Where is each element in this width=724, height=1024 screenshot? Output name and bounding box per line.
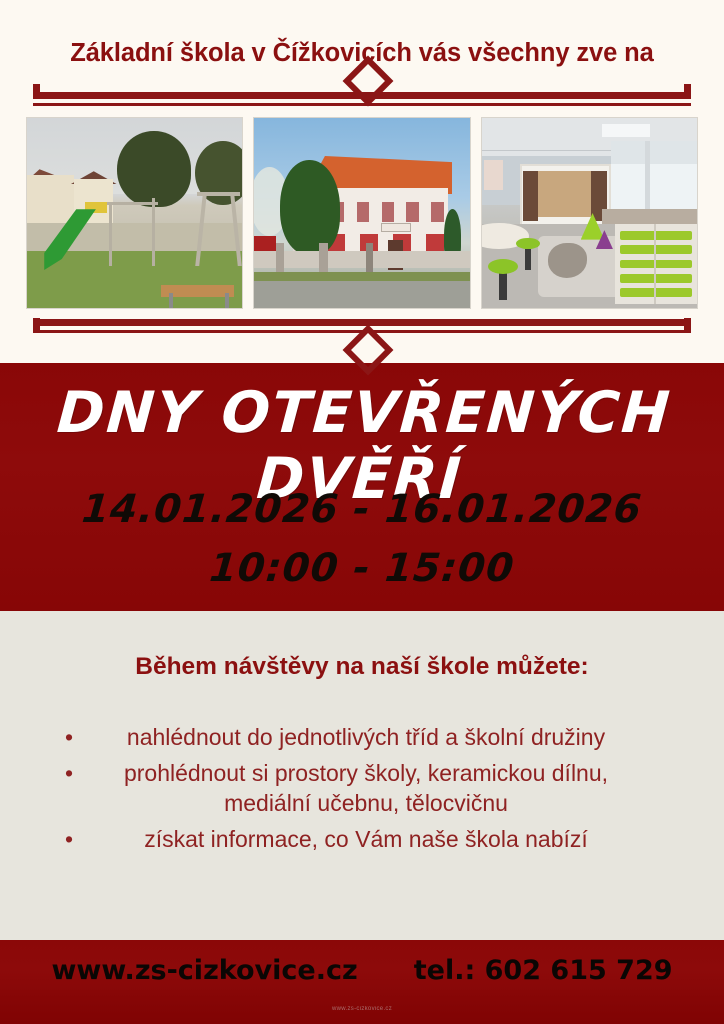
- event-schedule: 14.01.2026 - 16.01.2026 10:00 - 15:00: [0, 487, 724, 591]
- classroom-photo: [481, 117, 698, 309]
- list-item: • získat informace, co Vám naše škola na…: [52, 824, 672, 855]
- bullet-dot-icon: •: [52, 722, 86, 753]
- event-time-range: 10:00 - 15:00: [0, 546, 724, 591]
- list-item-label: prohlédnout si prostory školy, keramicko…: [86, 758, 672, 819]
- ornament-top-bar: [33, 92, 691, 99]
- playground-photo: [26, 117, 243, 309]
- bullet-dot-icon: •: [52, 758, 86, 789]
- phone-number[interactable]: tel.: 602 615 729: [414, 955, 673, 986]
- ornament-bottom-bar: [33, 319, 691, 326]
- ornament-top: [33, 92, 691, 106]
- activity-list: • nahlédnout do jednotlivých tříd a škol…: [52, 722, 672, 859]
- body-heading: Během návštěvy na naší škole můžete:: [0, 653, 724, 681]
- website-link[interactable]: www.zs-cizkovice.cz: [51, 955, 357, 986]
- list-item-label: získat informace, co Vám naše škola nabí…: [86, 824, 672, 855]
- list-item-label: nahlédnout do jednotlivých tříd a školní…: [86, 722, 672, 753]
- list-item: • prohlédnout si prostory školy, keramic…: [52, 758, 672, 819]
- bullet-dot-icon: •: [52, 824, 86, 855]
- poster-root: Základní škola v Čížkovicích vás všechny…: [0, 0, 724, 1024]
- ornament-bottom: [33, 319, 691, 333]
- ornament-top-cap-right: [684, 84, 691, 98]
- ornament-top-thin-rule: [33, 103, 691, 106]
- footer-contact: www.zs-cizkovice.cz tel.: 602 615 729: [0, 955, 724, 986]
- photo-strip: [26, 117, 698, 309]
- ornament-top-cap-left: [33, 84, 40, 98]
- list-item: • nahlédnout do jednotlivých tříd a škol…: [52, 722, 672, 753]
- school-building-photo: [253, 117, 470, 309]
- event-date-range: 14.01.2026 - 16.01.2026: [0, 487, 724, 532]
- footer-watermark: www.zs-cizkovice.cz: [0, 1006, 724, 1012]
